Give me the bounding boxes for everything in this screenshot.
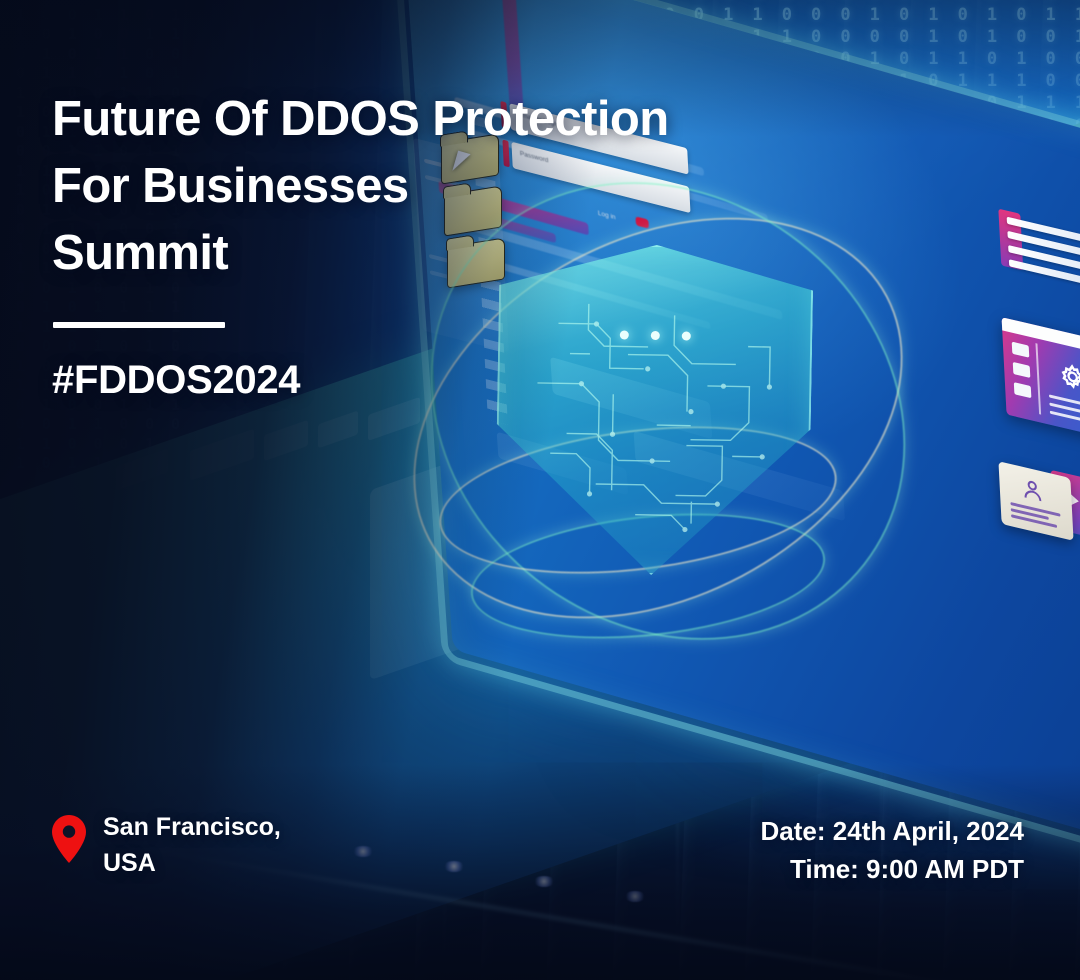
page-title: Future Of DDOS Protection For Businesses… xyxy=(52,86,752,287)
event-time: Time: 9:00 AM PDT xyxy=(761,850,1024,888)
location-line-2: USA xyxy=(103,846,281,882)
map-pin-icon xyxy=(52,815,86,863)
title-line-3: Summit xyxy=(52,220,752,287)
location-line-1: San Francisco, xyxy=(103,810,281,846)
title-divider xyxy=(53,322,225,328)
event-date: Date: 24th April, 2024 xyxy=(761,812,1024,850)
poster-content: Future Of DDOS Protection For Businesses… xyxy=(0,0,1080,980)
event-hashtag: #FDDOS2024 xyxy=(52,358,300,403)
title-line-2: For Businesses xyxy=(52,153,752,220)
location-text: San Francisco, USA xyxy=(103,810,281,881)
event-schedule: Date: 24th April, 2024 Time: 9:00 AM PDT xyxy=(761,812,1024,888)
event-location: San Francisco, USA xyxy=(52,810,281,881)
title-line-1: Future Of DDOS Protection xyxy=(52,86,752,153)
event-poster: 1 0 1 1 0 0 1 0 0 1 0 0 1 1 0 1 1 1 0 1 … xyxy=(0,0,1080,980)
